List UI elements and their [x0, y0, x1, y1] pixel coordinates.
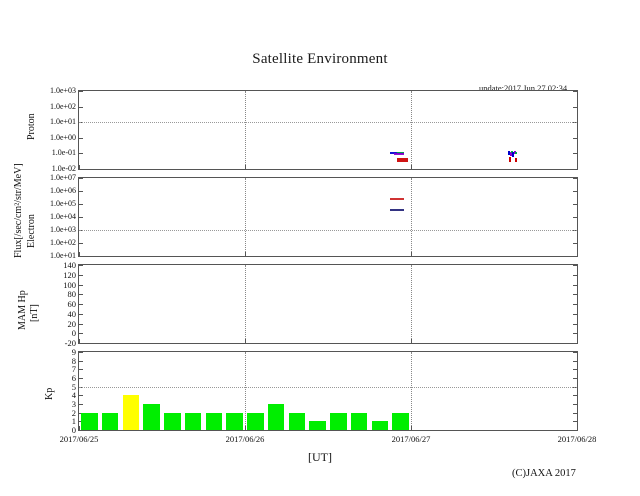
xtick-mark	[245, 339, 246, 343]
xtick-mark	[411, 426, 412, 430]
ytick-label: 60	[68, 300, 77, 308]
ytick-label: 120	[63, 271, 76, 279]
ytick-label: 1.0e+06	[50, 187, 76, 195]
ytick-label: 1.0e+02	[50, 239, 76, 247]
xtick-label: 2017/06/26	[226, 434, 265, 444]
ytick-label: 20	[68, 320, 77, 328]
day-gridline	[245, 178, 246, 256]
ytick-mark	[573, 369, 577, 370]
xtick-mark	[79, 426, 80, 430]
kp-bar	[123, 395, 140, 430]
ytick-mark	[573, 204, 577, 205]
ytick-mark	[573, 153, 577, 154]
ytick-label: 1.0e+00	[50, 134, 76, 142]
panel-kp-index	[78, 351, 578, 431]
ytick-mark	[573, 275, 577, 276]
ytick-mark	[573, 314, 577, 315]
horizontal-gridline	[79, 387, 577, 388]
ytick-mark	[79, 107, 83, 108]
ytick-mark	[573, 178, 577, 179]
ytick-label: 1.0e+05	[50, 200, 76, 208]
day-gridline	[411, 178, 412, 256]
ytick-label: 1.0e+04	[50, 213, 76, 221]
ytick-mark	[573, 91, 577, 92]
electron-ytick-labels: 1.0e+071.0e+061.0e+051.0e+041.0e+031.0e+…	[32, 177, 76, 257]
kp-bar	[372, 421, 389, 430]
ytick-label: 1.0e+01	[50, 118, 76, 126]
ytick-mark	[79, 304, 83, 305]
ytick-mark	[573, 217, 577, 218]
ytick-mark	[79, 243, 83, 244]
ytick-mark	[79, 204, 83, 205]
day-gridline	[411, 91, 412, 169]
day-gridline	[411, 352, 412, 430]
xtick-mark	[245, 165, 246, 169]
ytick-mark	[573, 294, 577, 295]
kp-ytick-labels: 9876543210	[32, 351, 76, 431]
day-gridline	[245, 265, 246, 343]
flux-spike	[515, 152, 517, 154]
panel-proton-flux	[78, 90, 578, 170]
kp-bar	[392, 413, 409, 430]
ytick-label: 9	[72, 348, 76, 356]
ytick-mark	[79, 285, 83, 286]
ytick-mark	[573, 265, 577, 266]
xtick-label: 2017/06/25	[60, 434, 99, 444]
ytick-mark	[79, 217, 83, 218]
ytick-label: 1.0e+07	[50, 174, 76, 182]
horizontal-gridline	[79, 122, 577, 123]
mam-plot-area	[79, 265, 577, 343]
flux-spike	[515, 158, 517, 162]
ytick-mark	[79, 395, 83, 396]
ytick-label: 6	[72, 374, 76, 382]
kp-bar	[185, 413, 202, 430]
kp-bar	[226, 413, 243, 430]
kp-bar	[268, 404, 285, 430]
xtick-mark	[411, 339, 412, 343]
kp-bar	[102, 413, 119, 430]
xtick-mark	[411, 252, 412, 256]
ytick-mark	[573, 361, 577, 362]
kp-bar	[289, 413, 306, 430]
proton-ytick-labels: 1.0e+031.0e+021.0e+011.0e+001.0e-011.0e-…	[32, 90, 76, 170]
xtick-mark	[79, 165, 80, 169]
kp-bar	[247, 413, 264, 430]
panel-mam-hp	[78, 264, 578, 344]
page-title: Satellite Environment	[0, 51, 640, 68]
kp-bar	[309, 421, 326, 430]
kp-bar	[206, 413, 223, 430]
flux-axis-label: Flux[/sec/cm²/str/MeV]	[13, 163, 24, 258]
ytick-mark	[79, 153, 83, 154]
ytick-mark	[573, 243, 577, 244]
ytick-mark	[79, 352, 83, 353]
ytick-label: 3	[72, 400, 76, 408]
horizontal-gridline	[79, 230, 577, 231]
ytick-mark	[573, 378, 577, 379]
ytick-mark	[573, 107, 577, 108]
ytick-label: 100	[63, 281, 76, 289]
ytick-label: 1.0e+03	[50, 226, 76, 234]
mam-ytick-labels: 140120100806040200-20	[32, 264, 76, 344]
ytick-mark	[79, 314, 83, 315]
ytick-mark	[79, 275, 83, 276]
ytick-mark	[79, 91, 83, 92]
flux-trace	[390, 209, 404, 211]
xtick-label: 2017/06/28	[558, 434, 597, 444]
xtick-label: 2017/06/27	[392, 434, 431, 444]
chart-page: Satellite Environment update:2017 Jun 27…	[0, 0, 640, 496]
ytick-mark	[79, 404, 83, 405]
kp-bar	[143, 404, 160, 430]
ytick-label: 80	[68, 290, 77, 298]
ytick-mark	[79, 369, 83, 370]
ytick-label: 140	[63, 261, 76, 269]
day-gridline	[411, 265, 412, 343]
mam-axis-label: MAM Hp	[17, 290, 28, 330]
ytick-label: 1.0e-02	[52, 165, 76, 173]
ytick-mark	[573, 285, 577, 286]
kp-bar	[81, 413, 98, 430]
proton-plot-area	[79, 91, 577, 169]
ytick-mark	[573, 395, 577, 396]
kp-bar	[330, 413, 347, 430]
ytick-label: -20	[65, 339, 76, 347]
ytick-mark	[573, 352, 577, 353]
ytick-mark	[573, 191, 577, 192]
flux-spike	[509, 157, 511, 161]
ytick-label: 1.0e-01	[52, 149, 76, 157]
day-gridline	[245, 91, 246, 169]
xtick-mark	[411, 165, 412, 169]
ytick-label: 1.0e+02	[50, 103, 76, 111]
ytick-mark	[573, 324, 577, 325]
flux-trace	[397, 158, 407, 161]
ytick-mark	[79, 324, 83, 325]
kp-plot-area	[79, 352, 577, 430]
kp-bar	[351, 413, 368, 430]
flux-trace	[397, 152, 404, 154]
electron-plot-area	[79, 178, 577, 256]
ytick-mark	[573, 413, 577, 414]
ytick-mark	[79, 138, 83, 139]
xtick-mark	[245, 252, 246, 256]
kp-bar	[164, 413, 181, 430]
xaxis-title: [UT]	[0, 450, 640, 465]
flux-trace	[394, 153, 404, 155]
ytick-mark	[573, 138, 577, 139]
ytick-mark	[79, 265, 83, 266]
ytick-mark	[79, 294, 83, 295]
ytick-label: 0	[72, 329, 76, 337]
xtick-mark	[245, 426, 246, 430]
ytick-label: 40	[68, 310, 77, 318]
ytick-label: 0	[72, 426, 76, 434]
panel-electron-flux	[78, 177, 578, 257]
ytick-mark	[79, 333, 83, 334]
ytick-mark	[573, 404, 577, 405]
ytick-mark	[573, 333, 577, 334]
xtick-mark	[79, 252, 80, 256]
ytick-mark	[79, 191, 83, 192]
ytick-mark	[573, 304, 577, 305]
copyright-notice: (C)JAXA 2017	[512, 468, 576, 479]
flux-trace	[390, 198, 404, 200]
ytick-label: 1.0e+03	[50, 87, 76, 95]
ytick-mark	[79, 361, 83, 362]
ytick-mark	[573, 421, 577, 422]
ytick-mark	[79, 178, 83, 179]
day-gridline	[245, 352, 246, 430]
xtick-mark	[79, 339, 80, 343]
ytick-label: 1.0e+01	[50, 252, 76, 260]
ytick-mark	[79, 378, 83, 379]
